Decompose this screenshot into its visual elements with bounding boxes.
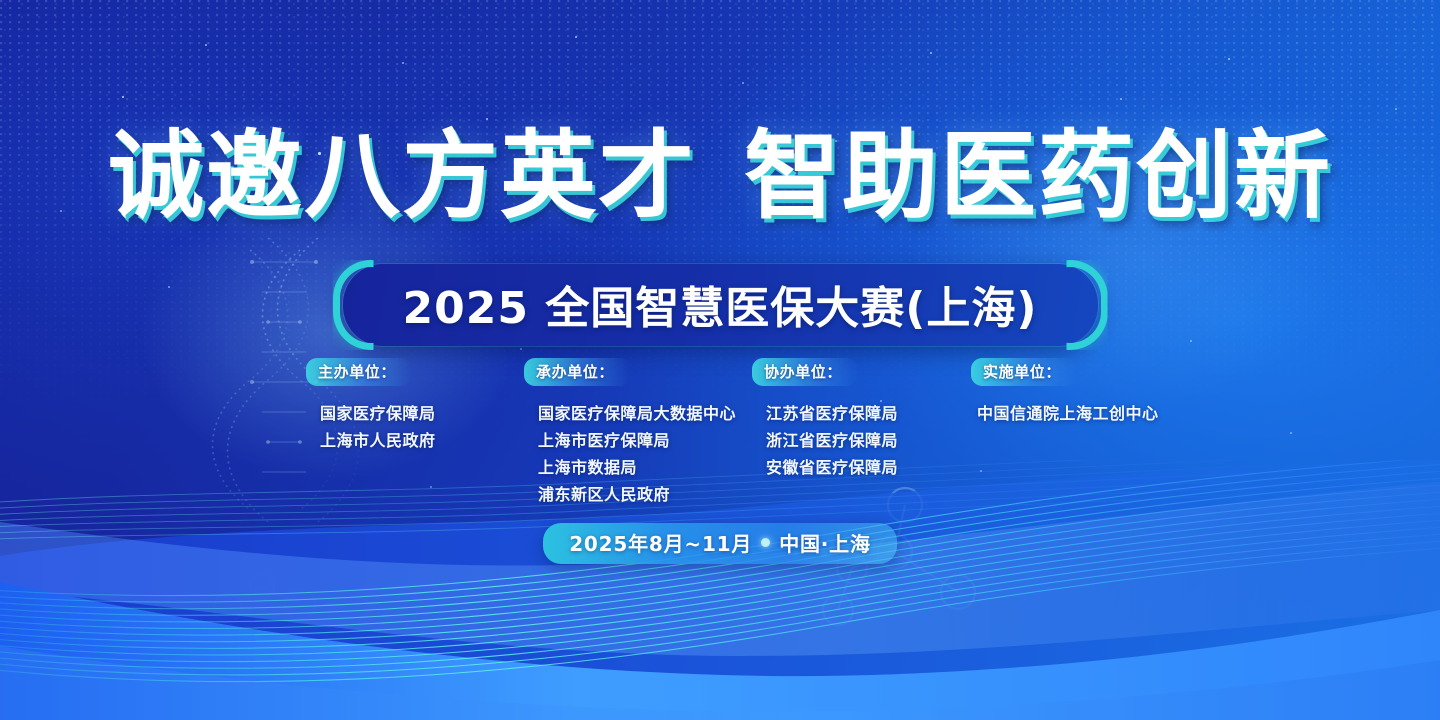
organizer-item: 国家医疗保障局大数据中心 xyxy=(524,400,749,427)
organizers-section: 主办单位： 国家医疗保障局 上海市人民政府 承办单位： 国家医疗保障局大数据中心… xyxy=(290,358,1210,508)
dot-separator-icon xyxy=(761,538,770,547)
organizer-column-implementer: 实施单位： 中国信通院上海工创中心 xyxy=(967,358,1236,427)
date-range-text: 2025年8月~11月 xyxy=(569,528,752,557)
organizer-column-undertaker: 承办单位： 国家医疗保障局大数据中心 上海市医疗保障局 上海市数据局 浦东新区人… xyxy=(521,358,749,508)
organizer-item: 浦东新区人民政府 xyxy=(524,481,749,508)
organizer-item: 中国信通院上海工创中心 xyxy=(971,400,1236,427)
subtitle-pill: 2025 全国智慧医保大赛(上海) xyxy=(343,264,1098,346)
organizer-column-host: 主办单位： 国家医疗保障局 上海市人民政府 xyxy=(290,358,521,454)
organizer-list-undertaker: 国家医疗保障局大数据中心 上海市医疗保障局 上海市数据局 浦东新区人民政府 xyxy=(524,400,749,508)
location-text: 中国·上海 xyxy=(779,528,871,557)
event-banner: 诚邀八方英才智助医药创新 2025 全国智慧医保大赛(上海) 主办单位： 国家医… xyxy=(0,0,1440,720)
organizer-item: 上海市数据局 xyxy=(524,454,749,481)
organizer-item: 江苏省医疗保障局 xyxy=(752,400,967,427)
organizer-item: 上海市人民政府 xyxy=(306,427,521,454)
organizer-tag-host: 主办单位： xyxy=(306,358,412,386)
page-title: 诚邀八方英才智助医药创新 xyxy=(0,126,1440,228)
organizer-list-host: 国家医疗保障局 上海市人民政府 xyxy=(306,400,521,454)
title-left: 诚邀八方英才 xyxy=(108,120,696,232)
organizer-item: 国家医疗保障局 xyxy=(306,400,521,427)
organizer-list-implementer: 中国信通院上海工创中心 xyxy=(971,400,1236,427)
organizer-item: 上海市医疗保障局 xyxy=(524,427,749,454)
banner-content: 诚邀八方英才智助医药创新 2025 全国智慧医保大赛(上海) 主办单位： 国家医… xyxy=(0,0,1440,720)
date-location-pill: 2025年8月~11月 中国·上海 xyxy=(543,523,897,564)
organizer-item: 浙江省医疗保障局 xyxy=(752,427,967,454)
organizer-tag-undertaker: 承办单位： xyxy=(524,358,630,386)
subtitle-container: 2025 全国智慧医保大赛(上海) xyxy=(0,264,1440,346)
organizer-item: 安徽省医疗保障局 xyxy=(752,454,967,481)
subtitle-text: 2025 全国智慧医保大赛(上海) xyxy=(403,283,1038,334)
organizer-list-coorganizer: 江苏省医疗保障局 浙江省医疗保障局 安徽省医疗保障局 xyxy=(752,400,967,481)
organizer-tag-coorganizer: 协办单位： xyxy=(752,358,858,386)
title-right: 智助医药创新 xyxy=(744,120,1332,232)
date-location-container: 2025年8月~11月 中国·上海 xyxy=(0,523,1440,564)
organizer-tag-implementer: 实施单位： xyxy=(971,358,1077,386)
organizer-column-coorganizer: 协办单位： 江苏省医疗保障局 浙江省医疗保障局 安徽省医疗保障局 xyxy=(749,358,967,481)
